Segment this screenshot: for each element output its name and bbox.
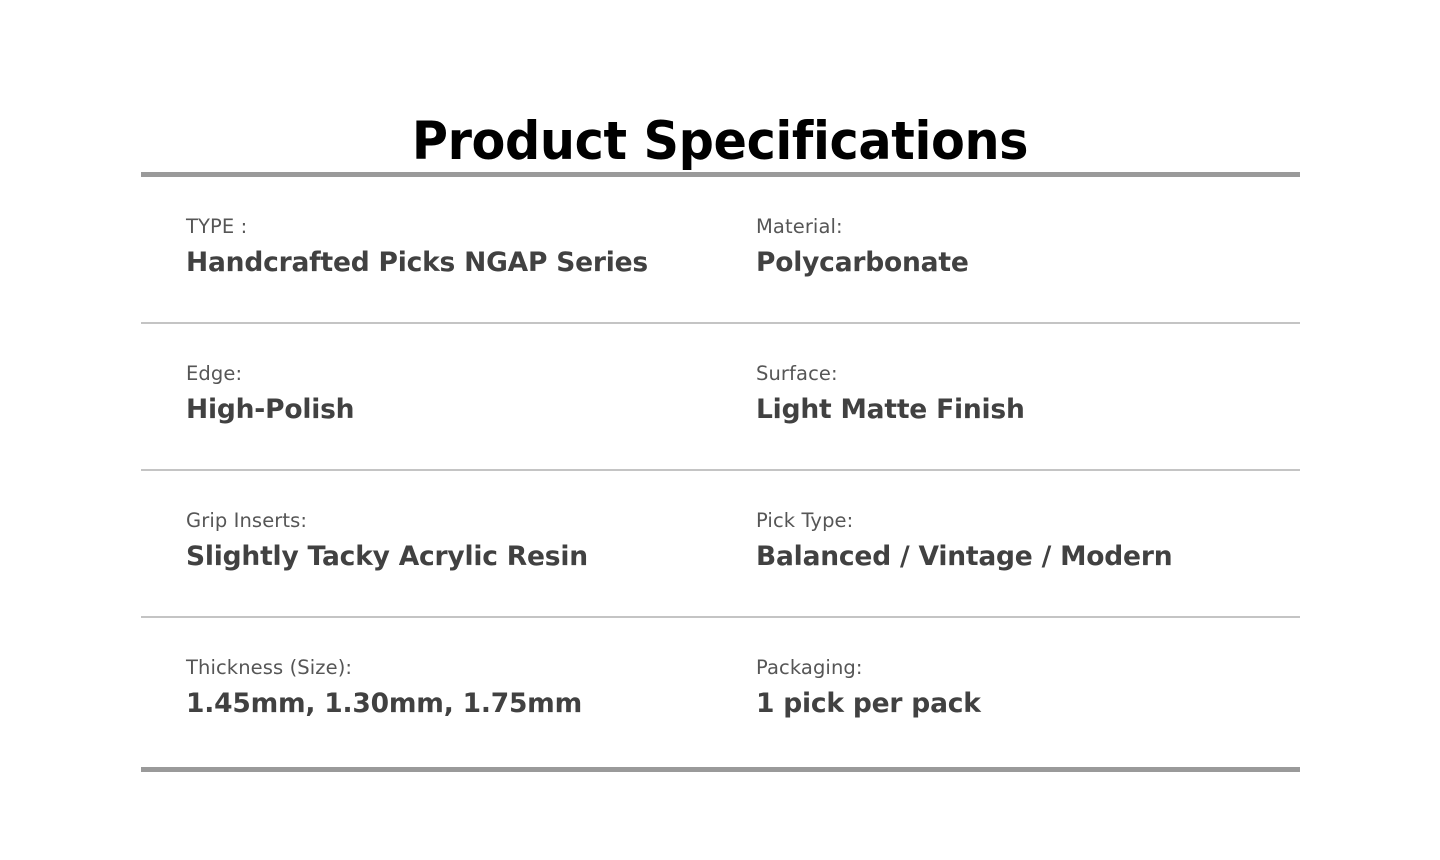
table-row: Thickness (Size): 1.45mm, 1.30mm, 1.75mm… <box>141 618 1300 767</box>
spec-label: Material: <box>756 214 1300 240</box>
table-bottom-rule <box>141 767 1300 772</box>
spec-value: High-Polish <box>186 391 719 429</box>
spec-label: Edge: <box>186 361 719 387</box>
spec-value: Balanced / Vintage / Modern <box>756 538 1300 576</box>
specifications-table: TYPE : Handcrafted Picks NGAP Series Mat… <box>141 172 1300 772</box>
spec-cell-thickness: Thickness (Size): 1.45mm, 1.30mm, 1.75mm <box>141 655 719 723</box>
table-row: Grip Inserts: Slightly Tacky Acrylic Res… <box>141 471 1300 616</box>
spec-label: Pick Type: <box>756 508 1300 534</box>
table-row: Edge: High-Polish Surface: Light Matte F… <box>141 324 1300 469</box>
spec-value: 1 pick per pack <box>756 685 1300 723</box>
spec-value: Handcrafted Picks NGAP Series <box>186 244 719 282</box>
spec-value: 1.45mm, 1.30mm, 1.75mm <box>186 685 719 723</box>
spec-value: Polycarbonate <box>756 244 1300 282</box>
spec-label: Thickness (Size): <box>186 655 719 681</box>
page-title: Product Specifications <box>50 110 1389 174</box>
spec-label: Packaging: <box>756 655 1300 681</box>
spec-value: Light Matte Finish <box>756 391 1300 429</box>
table-row: TYPE : Handcrafted Picks NGAP Series Mat… <box>141 177 1300 322</box>
spec-value: Slightly Tacky Acrylic Resin <box>186 538 719 576</box>
spec-cell-type: TYPE : Handcrafted Picks NGAP Series <box>141 214 719 282</box>
spec-label: Grip Inserts: <box>186 508 719 534</box>
spec-cell-pick-type: Pick Type: Balanced / Vintage / Modern <box>719 508 1300 576</box>
product-specifications-page: Product Specifications TYPE : Handcrafte… <box>0 0 1440 860</box>
spec-cell-edge: Edge: High-Polish <box>141 361 719 429</box>
spec-cell-grip-inserts: Grip Inserts: Slightly Tacky Acrylic Res… <box>141 508 719 576</box>
spec-cell-surface: Surface: Light Matte Finish <box>719 361 1300 429</box>
spec-cell-packaging: Packaging: 1 pick per pack <box>719 655 1300 723</box>
spec-cell-material: Material: Polycarbonate <box>719 214 1300 282</box>
spec-label: Surface: <box>756 361 1300 387</box>
spec-label: TYPE : <box>186 214 719 240</box>
